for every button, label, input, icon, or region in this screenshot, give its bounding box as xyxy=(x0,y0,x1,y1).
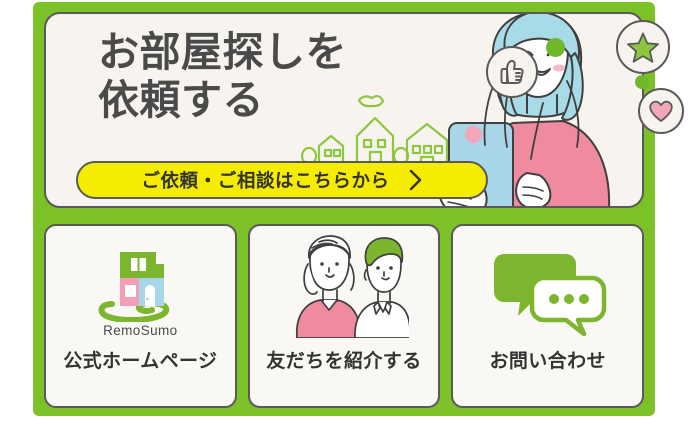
heart-badge xyxy=(638,88,684,134)
decorative-pink-dot xyxy=(465,126,482,143)
card-refer-friend[interactable]: 友だちを紹介する xyxy=(248,224,441,408)
decorative-green-dot-large xyxy=(546,38,565,57)
cta-button[interactable]: ご依頼・ご相談はこちらから xyxy=(76,161,488,199)
card-art xyxy=(250,226,439,338)
remosumo-house-logo-icon xyxy=(98,246,182,322)
remosumo-logo-text: RemoSumo xyxy=(103,323,177,338)
card-label: お問い合わせ xyxy=(489,346,605,373)
card-art: RemoSumo xyxy=(46,226,235,338)
thumbs-up-badge xyxy=(486,46,538,98)
hero-banner[interactable]: お部屋探しを 依頼する ご依頼・ご相談はこちらから xyxy=(44,12,644,208)
hero-title: お部屋探しを 依頼する xyxy=(98,28,347,125)
action-cards-row: RemoSumo 公式ホームページ xyxy=(44,224,644,408)
star-badge xyxy=(616,20,670,74)
star-icon xyxy=(627,32,659,63)
card-art xyxy=(453,226,642,338)
card-official-homepage[interactable]: RemoSumo 公式ホームページ xyxy=(44,224,237,408)
chat-bubbles-icon xyxy=(486,246,610,338)
two-people-illustration xyxy=(279,234,409,338)
remosumo-logo: RemoSumo xyxy=(98,246,182,338)
cta-label: ご依頼・ご相談はこちらから xyxy=(141,167,389,193)
card-contact[interactable]: お問い合わせ xyxy=(451,224,644,408)
thumbs-up-icon xyxy=(499,58,525,86)
page-root: お部屋探しを 依頼する ご依頼・ご相談はこちらから xyxy=(0,0,688,424)
decorative-green-dot-small xyxy=(635,75,649,89)
card-label: 公式ホームページ xyxy=(63,346,217,373)
chevron-right-icon xyxy=(408,169,423,191)
card-label: 友だちを紹介する xyxy=(266,346,421,373)
heart-icon xyxy=(648,99,674,123)
